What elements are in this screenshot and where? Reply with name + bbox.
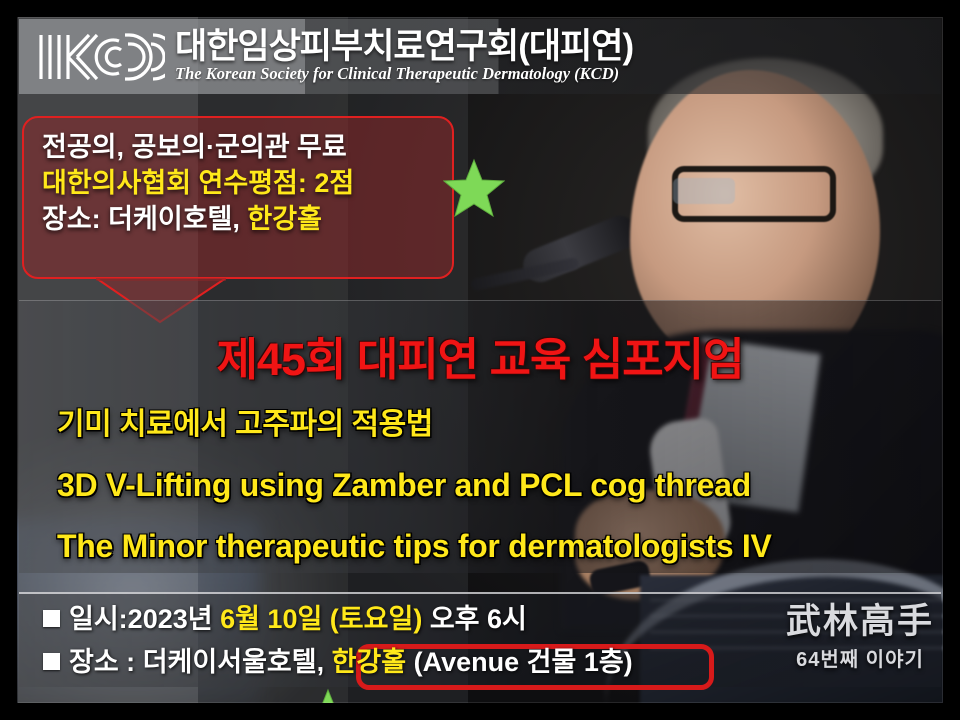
place-plain-1: 더케이서울호텔, [143, 647, 332, 677]
place-label: 장소 : [69, 647, 135, 677]
event-datetime-line: 일시:2023년 6월 10일 (토요일) 오후 6시 [43, 606, 941, 633]
poster-frame-inner [17, 17, 943, 703]
event-place-line: 장소 : 더케이서울호텔, 한강홀 (Avenue 건물 1층) [43, 649, 941, 676]
date-label: 일시: [69, 604, 128, 634]
date-plain-1: 2023년 [128, 604, 220, 634]
date-plain-2: 오후 6시 [422, 604, 527, 634]
bullet-square-icon [43, 610, 60, 627]
bullet-square-icon-2 [43, 653, 60, 670]
place-plain-2: (Avenue 건물 1층) [406, 647, 633, 677]
place-highlight-hall: 한강홀 [332, 647, 407, 677]
date-highlight: 6월 10일 (토요일) [220, 604, 422, 634]
poster-root: 대한임상피부치료연구회(대피연) The Korean Society for … [0, 0, 960, 720]
